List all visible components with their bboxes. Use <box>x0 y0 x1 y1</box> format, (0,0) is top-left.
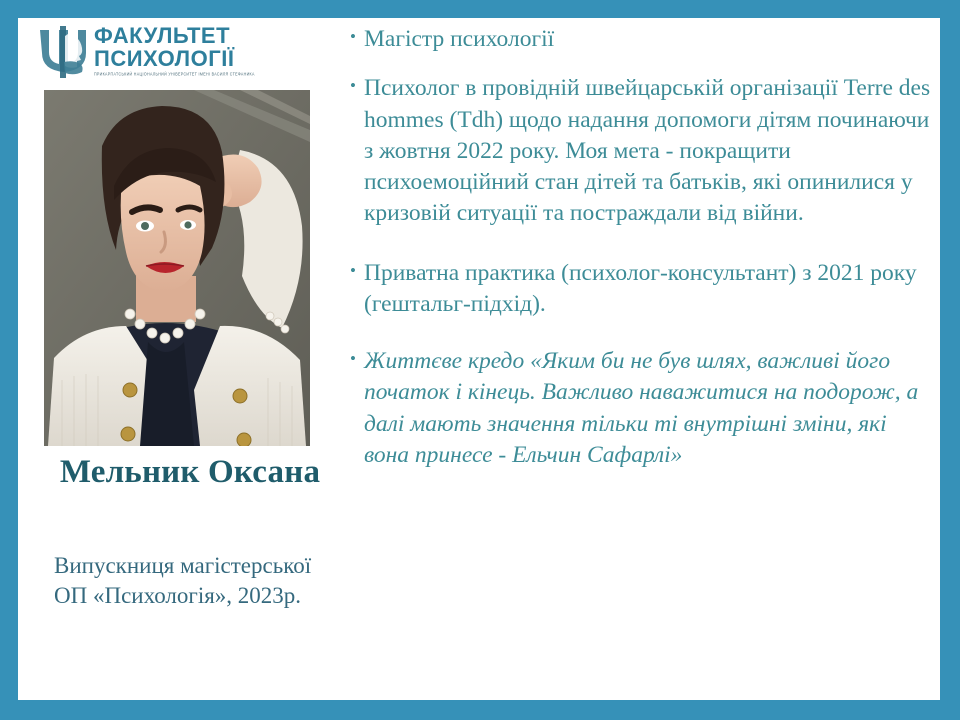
logo-line-1: ФАКУЛЬТЕТ <box>94 25 255 47</box>
bullet-marker-icon: • <box>350 73 364 99</box>
slide-root: ФАКУЛЬТЕТ ПСИХОЛОГІЇ ПРИКАРПАТСЬКИЙ НАЦІ… <box>0 0 960 720</box>
person-name: Мельник Оксана <box>28 454 352 491</box>
bullet-practice: • Приватна практика (психолог-консультан… <box>350 258 936 321</box>
slide-canvas: ФАКУЛЬТЕТ ПСИХОЛОГІЇ ПРИКАРПАТСЬКИЙ НАЦІ… <box>18 18 940 700</box>
logo-wordmark: ФАКУЛЬТЕТ ПСИХОЛОГІЇ ПРИКАРПАТСЬКИЙ НАЦІ… <box>94 25 255 77</box>
bullet-work: • Психолог в провідній швейцарській орга… <box>350 73 936 229</box>
bullet-list: • Магістр психології • Психолог в провід… <box>350 18 936 700</box>
graduate-note: Випускниця магістерської ОП «Психологія»… <box>54 551 334 611</box>
portrait-photo <box>44 90 310 446</box>
bullet-marker-icon: • <box>350 346 364 372</box>
bullet-marker-icon: • <box>350 24 364 50</box>
bullet-degree: • Магістр психології <box>350 24 936 55</box>
left-column: ФАКУЛЬТЕТ ПСИХОЛОГІЇ ПРИКАРПАТСЬКИЙ НАЦІ… <box>22 18 352 700</box>
slide-frame-top <box>0 0 960 18</box>
bullet-credo-text: Життєве кредо «Яким би не був шлях, важл… <box>364 346 936 471</box>
slide-frame-bottom <box>0 700 960 720</box>
psi-face-logo-icon <box>34 22 92 80</box>
logo-line-2: ПСИХОЛОГІЇ <box>94 48 255 70</box>
bullet-work-text: Психолог в провідній швейцарській органі… <box>364 73 936 229</box>
bullet-degree-text: Магістр психології <box>364 24 936 55</box>
slide-frame-right <box>940 0 960 720</box>
bullet-practice-text: Приватна практика (психолог-консультант)… <box>364 258 936 321</box>
slide-frame-left <box>0 0 18 720</box>
logo-subtitle: ПРИКАРПАТСЬКИЙ НАЦІОНАЛЬНИЙ УНІВЕРСИТЕТ … <box>94 73 255 77</box>
bullet-marker-icon: • <box>350 258 364 284</box>
bullet-credo: • Життєве кредо «Яким би не був шлях, ва… <box>350 346 936 471</box>
faculty-logo: ФАКУЛЬТЕТ ПСИХОЛОГІЇ ПРИКАРПАТСЬКИЙ НАЦІ… <box>34 20 258 82</box>
